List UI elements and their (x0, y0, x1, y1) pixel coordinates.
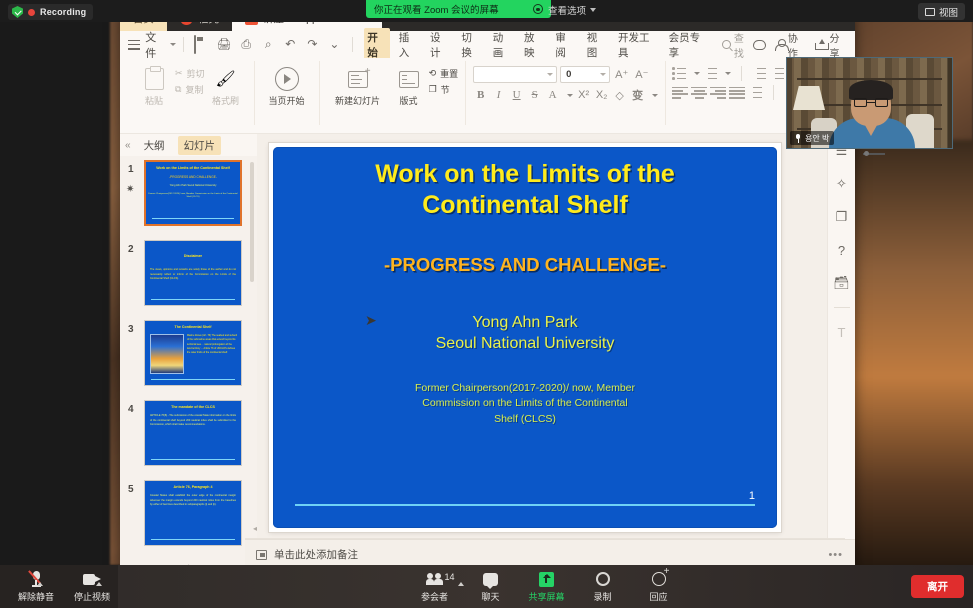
slide-thumb-canvas: Disclaimer The views, opinions and remar… (144, 240, 242, 306)
align-text-vertical-icon[interactable] (748, 86, 763, 99)
ribbon-menu-row: 文件 🖨 ⎙ ⌕ ↶ ↷ ⌄ 开始 插入 设计 切换 动画 放映 审阅 视图 开… (120, 31, 855, 58)
reactions-icon (652, 571, 666, 588)
numbered-list-icon[interactable] (703, 67, 718, 80)
slide-thumb-canvas: Article 76, Paragraph 4 Coastal States s… (144, 480, 242, 546)
slide-page-number: 1 (749, 490, 755, 502)
tab-slides[interactable]: 幻灯片 (178, 136, 222, 155)
divider (183, 37, 184, 52)
thumb-body: Coastal States shall establish the outer… (145, 490, 241, 508)
animation-star-icon: ✷ (126, 184, 134, 195)
align-center-icon[interactable] (691, 87, 707, 99)
camera-icon (83, 571, 101, 588)
zoom-meeting-window: Recording 你正在观看 Zoom 会议的屏幕 查看选项 视图 首页 稻壳 (0, 0, 973, 608)
shrink-font-icon[interactable]: A⁻ (633, 68, 650, 81)
ribbon-tab-view[interactable]: 视图 (584, 28, 609, 62)
toolbar-left-controls: 解除静音 停止视频 (8, 571, 120, 603)
clear-format-button[interactable]: ◇ (612, 89, 627, 102)
participants-label: 参会者 (421, 590, 448, 603)
new-slide-label: 新建幻灯片 (335, 94, 380, 107)
stop-video-button[interactable]: 停止视频 (64, 571, 120, 603)
thumb-body: ARTICLE 76(8) - The submission of the co… (145, 410, 241, 428)
redo-icon[interactable]: ↷ (304, 36, 320, 53)
ribbon-tab-slideshow[interactable]: 放映 (521, 28, 546, 62)
screen-share-banner: 你正在观看 Zoom 会议的屏幕 (366, 0, 551, 18)
chevron-down-icon (170, 43, 176, 46)
lamp-icon (793, 86, 825, 110)
record-icon (596, 571, 610, 588)
start-from-current-label: 当页开始 (269, 94, 305, 107)
chevron-down-icon (567, 94, 573, 97)
thumb-rule (151, 539, 235, 540)
change-case-button[interactable]: 变 (630, 87, 645, 103)
thumb-subtitle: -PROGRESS AND CHALLENGE- (146, 171, 240, 179)
reset-button[interactable]: ⟲ 重置 (429, 67, 459, 80)
slide-small-buttons: ⟲ 重置 ❐ 节 (429, 61, 459, 96)
slide-thumb-canvas: The mandate of the CLCS ARTICLE 76(8) - … (144, 400, 242, 466)
print-preview-icon[interactable]: 🖨 (216, 36, 232, 53)
justify-icon[interactable] (729, 87, 745, 99)
paste-label: 粘贴 (145, 94, 163, 107)
layout-label: 版式 (400, 94, 418, 107)
scissors-icon: ✂ (175, 68, 183, 79)
reset-label: 重置 (440, 67, 458, 80)
help-icon[interactable]: ? (833, 241, 851, 259)
slide-number: 5 (128, 484, 134, 495)
divider (352, 37, 353, 52)
participant-name-badge: 용안 박 (790, 131, 834, 145)
thumb-byline: Yong Ahn Park Seoul National University (146, 179, 240, 188)
slide-number: 2 (128, 244, 134, 255)
stop-video-label: 停止视频 (74, 590, 110, 603)
editor-workspace: « 大纲 幻灯片 1 ✷ Work on the Limits of the C… (120, 134, 855, 569)
slide-role-line1: Former Chairperson(2017-2020)/ now, Memb… (273, 381, 777, 397)
slide-role-line3: Shelf (CLCS) (273, 412, 777, 428)
copy-button[interactable]: ⧉ 复制 (175, 83, 205, 96)
ribbon-tab-transition[interactable]: 切换 (458, 28, 483, 62)
play-icon (275, 66, 299, 92)
slide-title[interactable]: Work on the Limits of the Continental Sh… (273, 147, 777, 222)
slide-number: 1 (128, 164, 134, 175)
font-size-value: 0 (566, 69, 571, 80)
slide-canvas[interactable]: Work on the Limits of the Continental Sh… (273, 147, 777, 528)
slide-author-block[interactable]: Yong Ahn Park Seoul National University (273, 276, 777, 355)
monitor-icon (925, 8, 935, 16)
shield-check-icon (12, 6, 23, 18)
participant-video-thumbnail[interactable]: 용안 박 (786, 57, 953, 149)
font-row-top: 0 A⁺ A⁻ (473, 66, 658, 83)
chevron-down-icon (652, 94, 658, 97)
reset-icon: ⟲ (429, 68, 437, 79)
zoom-bottom-toolbar: 解除静音 停止视频 14 参会者 聊天 (0, 565, 973, 608)
section-label: 节 (441, 83, 450, 96)
tab-outline[interactable]: 大纲 (138, 136, 171, 155)
share-label: 分享 (830, 30, 849, 60)
divider (834, 307, 850, 308)
right-tool-rail: ⚌ ✧ ❐ ? 🗃 T (827, 134, 855, 569)
record-label: 录制 (593, 590, 611, 603)
microphone-muted-icon (31, 571, 42, 588)
ribbon-tab-start[interactable]: 开始 (364, 28, 389, 62)
slide-affiliation: Seoul National University (273, 333, 777, 355)
grow-font-icon[interactable]: A⁺ (613, 68, 630, 81)
leave-label: 离开 (927, 579, 948, 594)
view-options-button[interactable]: 查看选项 (548, 2, 596, 17)
chat-bubble-icon (483, 571, 498, 588)
notes-icon (256, 550, 267, 560)
share-screen-button[interactable]: 共享屏幕 (519, 571, 575, 603)
cut-button[interactable]: ✂ 剪切 (175, 67, 205, 80)
record-status-icon (533, 4, 543, 14)
font-row-bottom: B I U S A X² X₂ ◇ 变 (473, 87, 658, 103)
clipboard-small-buttons: ✂ 剪切 ⧉ 复制 (175, 61, 205, 96)
layout-button[interactable]: 版式 (389, 61, 429, 107)
person-hair (849, 80, 893, 100)
record-dot-icon (28, 9, 35, 16)
subscript-button[interactable]: X₂ (594, 89, 609, 101)
view-button-label: 视图 (939, 5, 958, 19)
text-icon[interactable]: T (833, 323, 851, 341)
notes-collapse-icon[interactable]: ◂ (253, 524, 257, 533)
zoom-top-bar: Recording 你正在观看 Zoom 会议的屏幕 查看选项 视图 (0, 0, 973, 22)
chevron-down-icon (547, 73, 553, 76)
view-options-label: 查看选项 (548, 3, 586, 17)
glasses-icon (854, 98, 888, 107)
print-icon[interactable]: ⎙ (238, 36, 254, 53)
participants-count: 14 (444, 572, 454, 582)
align-left-icon[interactable] (672, 87, 688, 99)
search-placeholder: 查找 (734, 30, 753, 60)
slide-bottom-rule (295, 504, 755, 506)
chevron-down-icon (694, 72, 700, 75)
thumb-body: The views, opinions and remarks are sole… (145, 259, 241, 282)
thumb-rule (151, 379, 235, 380)
divider (773, 85, 774, 100)
increase-indent-icon[interactable] (770, 67, 785, 80)
font-color-button[interactable]: A (545, 89, 560, 101)
slide-thumbnail-list[interactable]: 1 ✷ Work on the Limits of the Continenta… (120, 156, 257, 569)
chevron-up-icon[interactable] (96, 582, 102, 586)
file-menu-label[interactable]: 文件 (145, 29, 166, 61)
share-button[interactable]: 分享 (815, 30, 848, 60)
wps-presentation-window: 首页 稻壳 P 讲座PPT.pptx ✕ + 1 — ▢ ✕ (120, 13, 855, 569)
mute-label: 解除静音 (18, 590, 54, 603)
slide-thumb-canvas: The Continental Shelf Marine Zones (Art.… (144, 320, 242, 386)
thumb-title: Article 76, Paragraph 4 (145, 481, 241, 490)
thumb-rule (152, 218, 234, 219)
mute-button[interactable]: 解除静音 (8, 571, 64, 603)
participant-name: 용안 박 (805, 133, 829, 144)
slide-title-line2: Continental Shelf (273, 190, 777, 221)
magic-wand-icon[interactable]: ✧ (833, 175, 851, 193)
toolbox-icon[interactable]: 🗃 (833, 274, 851, 292)
find-icon[interactable]: ⌕ (260, 36, 276, 53)
slide-panel-header: « 大纲 幻灯片 (120, 134, 257, 156)
slides-group: + 新建幻灯片 版式 ⟲ 重置 ❐ (320, 61, 467, 125)
recording-label: Recording (40, 7, 86, 17)
layout-icon (399, 66, 419, 92)
align-right-icon[interactable] (710, 87, 726, 99)
italic-button[interactable]: I (491, 89, 506, 101)
chevron-down-icon (600, 73, 606, 76)
divider (741, 66, 742, 81)
participants-icon: 14 (426, 571, 444, 588)
cut-label: 剪切 (187, 67, 205, 80)
share-screen-icon (539, 571, 554, 588)
ribbon-tabs: 开始 插入 设计 切换 动画 放映 审阅 视图 开发工具 会员专享 (364, 28, 710, 62)
customize-toolbar-icon[interactable]: ⌄ (326, 36, 342, 53)
collaborate-icon (775, 39, 785, 51)
paste-button[interactable]: 粘贴 (133, 61, 175, 107)
chevron-up-icon[interactable] (37, 582, 43, 586)
ribbon-tab-design[interactable]: 设计 (427, 28, 452, 62)
chat-label: 聊天 (481, 590, 499, 603)
copy-icon: ⧉ (175, 84, 181, 95)
bold-button[interactable]: B (473, 89, 488, 101)
format-painter-label: 格式刷 (212, 94, 239, 107)
slide-stage[interactable]: Work on the Limits of the Continental Sh… (269, 143, 781, 532)
slide-thumb-1[interactable]: 1 ✷ Work on the Limits of the Continenta… (120, 156, 257, 236)
save-icon[interactable] (194, 36, 210, 53)
video-resize-handle[interactable] (863, 151, 885, 157)
chevron-down-icon (725, 72, 731, 75)
collapse-panel-icon[interactable]: « (125, 140, 131, 151)
thumb-note: Former Chairperson(2017-2020)/ now, Memb… (146, 189, 240, 200)
section-icon: ❐ (429, 84, 437, 95)
thumb-rule (151, 299, 235, 300)
collaborate-label: 协作 (788, 30, 807, 60)
new-slide-icon: + (348, 66, 368, 92)
undo-icon[interactable]: ↶ (282, 36, 298, 53)
slide-thumb-3[interactable]: 3 The Continental Shelf Marine Zones (Ar… (120, 316, 257, 396)
slide-editor[interactable]: Work on the Limits of the Continental Sh… (257, 134, 855, 569)
slide-subtitle[interactable]: -PROGRESS AND CHALLENGE- (273, 222, 777, 276)
format-painter-icon: 🖌 (215, 66, 235, 92)
menu-hamburger-icon[interactable] (128, 40, 140, 50)
copy-label: 复制 (185, 83, 203, 96)
slide-thumb-canvas: Work on the Limits of the Continental Sh… (144, 160, 242, 226)
thumb-rule (151, 459, 235, 460)
thumb-title: Disclaimer (145, 241, 241, 259)
slide-role-line2: Commission on the Limits of the Continen… (273, 396, 777, 412)
reactions-label: 回应 (649, 590, 667, 603)
bullet-list-icon[interactable] (672, 67, 687, 80)
ribbon-tab-insert[interactable]: 插入 (396, 28, 421, 62)
notes-more-icon[interactable]: ••• (828, 549, 843, 561)
section-button[interactable]: ❐ 节 (429, 83, 459, 96)
font-group: 0 A⁺ A⁻ B I U S A X² X₂ ◇ 变 (466, 61, 666, 125)
cloud-sync-icon[interactable] (753, 40, 766, 50)
leave-meeting-button[interactable]: 离开 (911, 575, 964, 598)
ribbon-tab-devtools[interactable]: 开发工具 (615, 28, 660, 62)
ribbon-tab-animation[interactable]: 动画 (490, 28, 515, 62)
desktop-backdrop-right (850, 140, 973, 570)
reactions-button[interactable]: 回应 (631, 571, 687, 603)
new-slide-button[interactable]: + 新建幻灯片 (327, 61, 389, 107)
recording-indicator: Recording (8, 4, 93, 20)
mouse-cursor: ➤ (365, 312, 377, 329)
slide-thumb-5[interactable]: 5 Article 76, Paragraph 4 Coastal States… (120, 476, 257, 556)
thumb-image (150, 334, 184, 374)
format-painter-button[interactable]: 🖌 格式刷 (205, 61, 247, 107)
slide-role-block[interactable]: Former Chairperson(2017-2020)/ now, Memb… (273, 355, 777, 428)
ribbon-toolbar: 粘贴 ✂ 剪切 ⧉ 复制 🖌 格式刷 (120, 58, 855, 134)
share-screen-label: 共享屏幕 (528, 590, 564, 603)
slideshow-group: 当页开始 (255, 61, 320, 125)
slide-author: Yong Ahn Park (273, 312, 777, 334)
microphone-icon (795, 134, 801, 143)
slide-number: 4 (128, 404, 134, 415)
underline-button[interactable]: U (509, 89, 524, 101)
toolbar-center-controls: 14 参会者 聊天 共享屏幕 录制 回应 (407, 571, 687, 603)
decrease-indent-icon[interactable] (752, 67, 767, 80)
ribbon-right-actions: 协作 分享 (753, 30, 855, 60)
ribbon-tab-review[interactable]: 审阅 (552, 28, 577, 62)
thumb-title: The mandate of the CLCS (145, 401, 241, 410)
collaborate-button[interactable]: 协作 (775, 30, 807, 60)
search-icon (722, 40, 731, 49)
clipboard-group: 粘贴 ✂ 剪切 ⧉ 复制 🖌 格式刷 (126, 61, 255, 125)
notes-placeholder: 单击此处添加备注 (274, 547, 358, 562)
slide-number: 3 (128, 324, 134, 335)
share-icon (815, 39, 826, 50)
start-from-current-button[interactable]: 当页开始 (262, 61, 312, 107)
participants-button[interactable]: 14 参会者 (407, 571, 463, 603)
present-screen-icon[interactable]: ❐ (833, 208, 851, 226)
slide-thumb-4[interactable]: 4 The mandate of the CLCS ARTICLE 76(8) … (120, 396, 257, 476)
font-size-select[interactable]: 0 (560, 66, 610, 83)
share-banner-text: 你正在观看 Zoom 会议的屏幕 (374, 2, 499, 16)
search-input[interactable]: 查找 (722, 30, 752, 60)
font-name-select[interactable] (473, 66, 557, 83)
thumb-title: The Continental Shelf (145, 321, 241, 330)
chevron-down-icon (590, 8, 596, 12)
record-button[interactable]: 录制 (575, 571, 631, 603)
slide-title-line1: Work on the Limits of the (273, 159, 777, 190)
strikethrough-button[interactable]: S (527, 89, 542, 101)
ribbon-tab-member[interactable]: 会员专享 (666, 28, 711, 62)
chat-button[interactable]: 聊天 (463, 571, 519, 603)
panel-scrollbar[interactable] (250, 162, 254, 282)
paste-icon (145, 66, 164, 92)
thumb-title: Work on the Limits of the Continental Sh… (146, 162, 240, 171)
superscript-button[interactable]: X² (576, 89, 591, 101)
view-layout-button[interactable]: 视图 (918, 3, 965, 20)
slide-thumb-2[interactable]: 2 Disclaimer The views, opinions and rem… (120, 236, 257, 316)
